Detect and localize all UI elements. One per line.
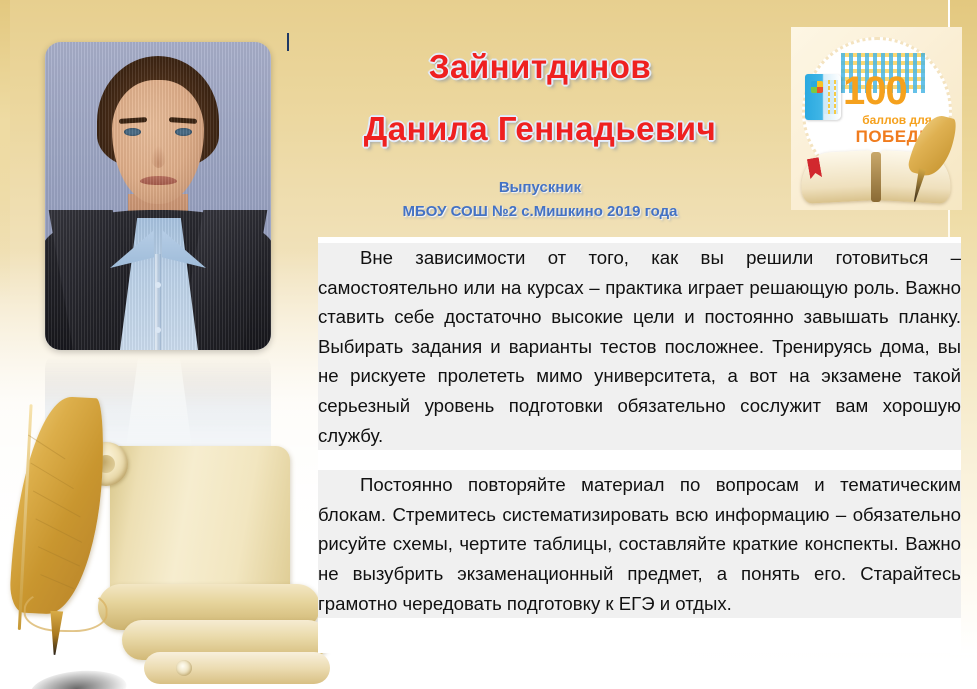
hundred-points-logo: 100 баллов для ПОБЕДЫ [791, 27, 962, 210]
logo-quill-nib [910, 168, 928, 203]
photo-shirt-button [155, 327, 161, 333]
body-paragraph-1: Вне зависимости от того, как вы решили г… [318, 243, 961, 450]
scroll-parchment-icon [110, 446, 290, 594]
presentation-slide: Зайнитдинов Данила Геннадьевич Выпускник… [0, 0, 977, 689]
subtitle-line-1: Выпускник [300, 179, 780, 196]
text-cursor [287, 33, 289, 51]
body-text-box[interactable]: Вне зависимости от того, как вы решили г… [318, 237, 961, 653]
logo-book-spine [871, 152, 881, 202]
left-border-band [0, 0, 10, 300]
logo-number: 100 [843, 71, 953, 111]
body-paragraph-2: Постоянно повторяйте материал по вопроса… [318, 470, 961, 618]
scroll-roll-icon [144, 652, 330, 684]
graduate-photo[interactable] [45, 42, 271, 350]
quill-pen-icon [0, 392, 125, 652]
logo-book-icon [805, 74, 841, 120]
page-title-line-2: Данила Геннадьевич [300, 110, 780, 148]
photo-shirt-placket [155, 254, 161, 350]
page-title-line-1: Зайнитдинов [300, 48, 780, 86]
photo-shirt-button [155, 282, 161, 288]
quill-and-scroll-decoration [2, 368, 332, 689]
quill-swirl-icon [23, 587, 108, 632]
scroll-roll-end-icon [176, 660, 192, 676]
subtitle-line-2: МБОУ СОШ №2 с.Мишкино 2019 года [300, 203, 780, 220]
photo-frame [45, 42, 271, 350]
